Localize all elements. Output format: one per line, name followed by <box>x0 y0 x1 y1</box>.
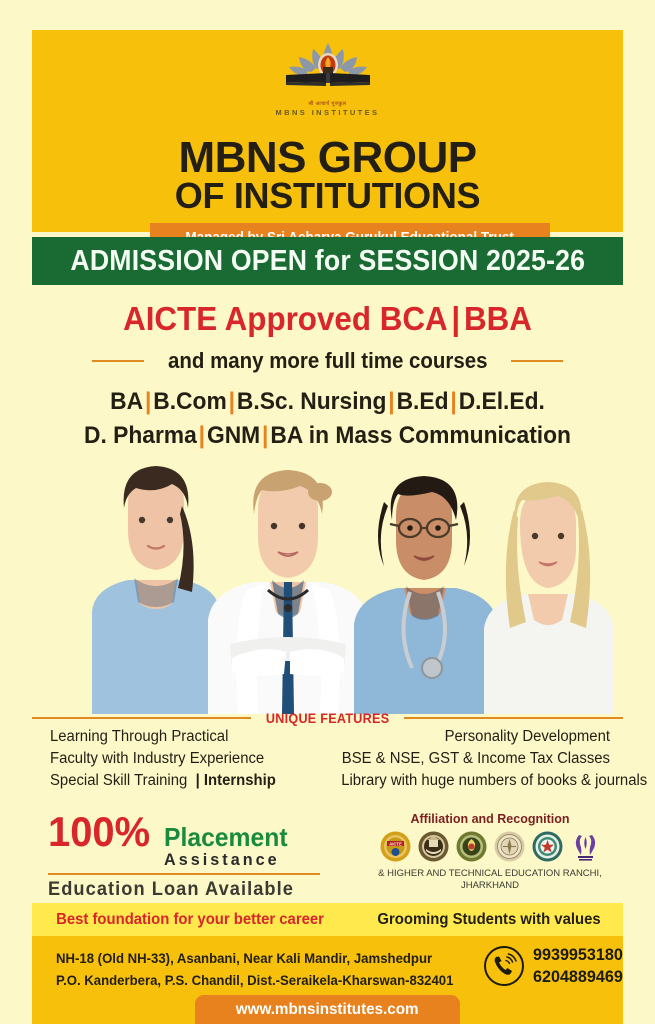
uf-rule-right <box>404 717 623 720</box>
feature-item: Personality Development <box>341 726 610 748</box>
aicte-headline-separator: | <box>448 300 464 337</box>
affiliation-badges: AICTE <box>350 831 630 862</box>
feature-divider: | <box>196 772 200 789</box>
course-item: B.Ed <box>397 388 449 415</box>
course-item: D.El.Ed. <box>459 388 545 415</box>
assistance-word: Assistance <box>164 850 288 870</box>
svg-text:AICTE: AICTE <box>389 841 402 846</box>
features-right-column: Personality Development BSE & NSE, GST &… <box>330 726 610 792</box>
students-illustration <box>32 462 623 714</box>
header-banner: श्री आचार्य गुरुकुल MBNS INSTITUTES MBNS… <box>32 30 623 232</box>
nursing-council-badge-icon <box>570 831 601 862</box>
subheadline-row: and many more full time courses <box>0 348 655 374</box>
university-badge-icon <box>418 831 449 862</box>
course-list-line-1: BA|B.Com|B.Sc. Nursing|B.Ed|D.El.Ed. <box>16 388 638 416</box>
unique-features-heading: UNIQUE FEATURES <box>266 710 390 726</box>
course-divider: | <box>449 388 459 415</box>
course-item: BA <box>110 388 143 415</box>
address-block: NH-18 (Old NH-33), Asanbani, Near Kali M… <box>56 947 476 991</box>
phone-numbers[interactable]: 9939953180 6204889469 <box>533 944 628 988</box>
address-line-1: NH-18 (Old NH-33), Asanbani, Near Kali M… <box>56 947 451 969</box>
course-item: BA in Mass Communication <box>270 422 571 449</box>
affiliation-caption: & HIGHER AND TECHNICAL EDUCATION RANCHI,… <box>350 868 630 892</box>
placement-block: 100% Placement Assistance Education Loan… <box>48 812 348 901</box>
course-item: B.Sc. Nursing <box>237 388 386 415</box>
page-title-line1: MBNS GROUP <box>32 136 623 180</box>
course-divider: | <box>227 388 237 415</box>
tagline-right: Grooming Students with values <box>377 911 600 929</box>
admission-open-banner: ADMISSION OPEN for SESSION 2025-26 <box>32 237 623 285</box>
rule-right <box>511 360 563 362</box>
website-url[interactable]: www.mbnsinstitutes.com <box>236 1001 419 1019</box>
logo-hindi-text: श्री आचार्य गुरुकुल <box>32 101 623 107</box>
council-badge-icon <box>456 831 487 862</box>
logo-block: श्री आचार्य गुरुकुल MBNS INSTITUTES <box>32 40 623 117</box>
course-divider: | <box>143 388 153 415</box>
website-pill[interactable]: www.mbnsinstitutes.com <box>195 995 460 1024</box>
phone-number-1[interactable]: 9939953180 <box>533 944 623 966</box>
tagline-band: Best foundation for your better career G… <box>32 903 623 936</box>
feature-item: Library with huge numbers of books & jou… <box>341 770 610 792</box>
poster-root: श्री आचार्य गुरुकुल MBNS INSTITUTES MBNS… <box>0 0 655 1024</box>
feature-text: Special Skill Training <box>50 772 187 789</box>
logo-institute-label: MBNS INSTITUTES <box>32 108 623 117</box>
affiliation-caption-line1: & HIGHER AND TECHNICAL EDUCATION RANCHI, <box>350 868 630 880</box>
feature-item: BSE & NSE, GST & Income Tax Classes <box>341 748 610 770</box>
features-left-column: Learning Through Practical Faculty with … <box>50 726 330 792</box>
course-item: B.Com <box>153 388 226 415</box>
subheadline-text: and many more full time courses <box>168 348 487 374</box>
unique-features-heading-row: UNIQUE FEATURES <box>32 710 623 726</box>
state-board-badge-icon <box>532 831 563 862</box>
aicte-headline-prefix: AICTE Approved BCA <box>123 300 448 337</box>
course-item: D. Pharma <box>84 422 197 449</box>
placement-headline-row: 100% Placement Assistance <box>48 812 348 870</box>
rule-left <box>92 360 144 362</box>
mbns-institutes-logo-icon <box>270 40 386 96</box>
page-title-line2: OF INSTITUTIONS <box>32 178 623 214</box>
features-columns: Learning Through Practical Faculty with … <box>50 726 610 792</box>
uf-rule-left <box>32 717 251 720</box>
placement-percent: 100% <box>48 812 150 852</box>
address-line-2: P.O. Kanderbera, P.S. Chandil, Dist.-Ser… <box>56 969 451 991</box>
course-divider: | <box>197 422 207 449</box>
admission-open-text: ADMISSION OPEN for SESSION 2025-26 <box>70 245 585 278</box>
phone-number-2[interactable]: 6204889469 <box>533 966 623 988</box>
placement-rule <box>48 873 320 875</box>
affiliation-block: Affiliation and Recognition AICTE <box>350 812 630 892</box>
students-photo <box>32 462 623 714</box>
affiliation-caption-line2: JHARKHAND <box>350 880 630 892</box>
course-divider: | <box>386 388 396 415</box>
affiliation-title: Affiliation and Recognition <box>350 812 630 826</box>
board-badge-icon <box>494 831 525 862</box>
feature-item: Special Skill Training | Internship <box>50 770 319 792</box>
aicte-headline-suffix: BBA <box>464 300 532 337</box>
tagline-left: Best foundation for your better career <box>57 911 325 929</box>
placement-word: Placement <box>164 824 288 850</box>
feature-text-bold: Internship <box>204 772 276 789</box>
placement-words: Placement Assistance <box>164 824 294 870</box>
phone-group[interactable]: 9939953180 6204889469 <box>484 944 628 988</box>
aicte-badge-icon: AICTE <box>380 831 411 862</box>
phone-ringing-icon <box>484 946 524 986</box>
education-loan-text: Education Loan Available <box>48 879 336 901</box>
course-divider: | <box>260 422 270 449</box>
course-list-line-2: D. Pharma|GNM|BA in Mass Communication <box>16 422 638 450</box>
feature-item: Learning Through Practical <box>50 726 319 748</box>
course-item: GNM <box>207 422 260 449</box>
feature-item: Faculty with Industry Experience <box>50 748 319 770</box>
aicte-headline: AICTE Approved BCA|BBA <box>16 300 638 338</box>
